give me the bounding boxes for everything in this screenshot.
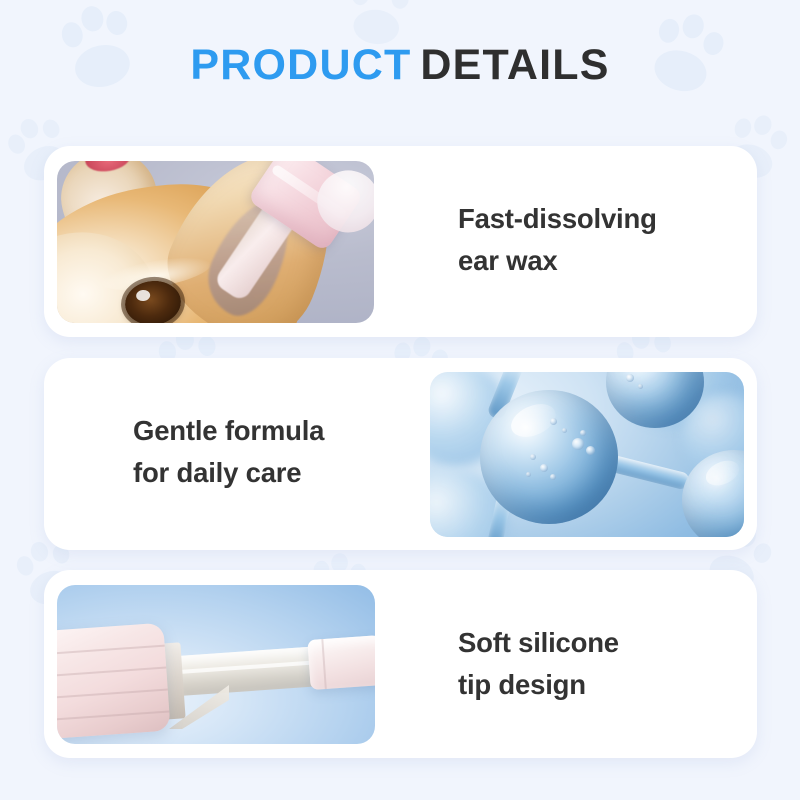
bubble xyxy=(540,464,548,472)
cap-rib xyxy=(57,667,166,678)
bubble xyxy=(550,474,556,480)
dropper-cap xyxy=(57,623,171,740)
feature-caption: Gentle formula for daily care xyxy=(133,410,324,494)
caption-line-2: tip design xyxy=(458,664,619,706)
bubble xyxy=(526,472,531,477)
cap-rib xyxy=(57,689,168,700)
bubble xyxy=(562,428,567,433)
silicone-tip xyxy=(307,634,375,690)
page-title-rest: DETAILS xyxy=(420,41,609,89)
feature-caption: Fast-dissolving ear wax xyxy=(458,198,657,282)
caption-line-2: ear wax xyxy=(458,240,657,282)
feature-card-silicone-tip: Soft silicone tip design xyxy=(44,570,757,758)
page-title-highlight: PRODUCT xyxy=(190,41,411,89)
cap-rib xyxy=(57,645,165,656)
bubble xyxy=(580,430,586,436)
cap-rib xyxy=(57,710,169,721)
bubble xyxy=(530,454,536,460)
bubble xyxy=(572,438,584,450)
feature-card-gentle-formula: Gentle formula for daily care xyxy=(44,358,757,550)
bubble xyxy=(550,418,557,425)
page-title: PRODUCTDETAILS xyxy=(190,44,609,87)
feature-caption: Soft silicone tip design xyxy=(458,622,619,706)
caption-line-1: Fast-dissolving xyxy=(458,198,657,240)
caption-line-1: Gentle formula xyxy=(133,410,324,452)
corgi-ear-dropper-photo xyxy=(57,161,374,323)
caption-line-1: Soft silicone xyxy=(458,622,619,664)
product-details-infographic: PRODUCTDETAILS Fast-dissolving ear xyxy=(0,0,800,800)
molecule-spheres-photo xyxy=(430,372,744,537)
bubble xyxy=(586,446,595,455)
feature-card-fast-dissolving: Fast-dissolving ear wax xyxy=(44,146,757,337)
tip-seam xyxy=(321,639,326,689)
caption-line-2: for daily care xyxy=(133,452,324,494)
page-header: PRODUCTDETAILS xyxy=(0,44,800,87)
silicone-tip-dropper-photo xyxy=(57,585,375,744)
bubble xyxy=(638,384,643,389)
bubble xyxy=(626,374,634,382)
molecule-sphere-main xyxy=(480,390,618,524)
